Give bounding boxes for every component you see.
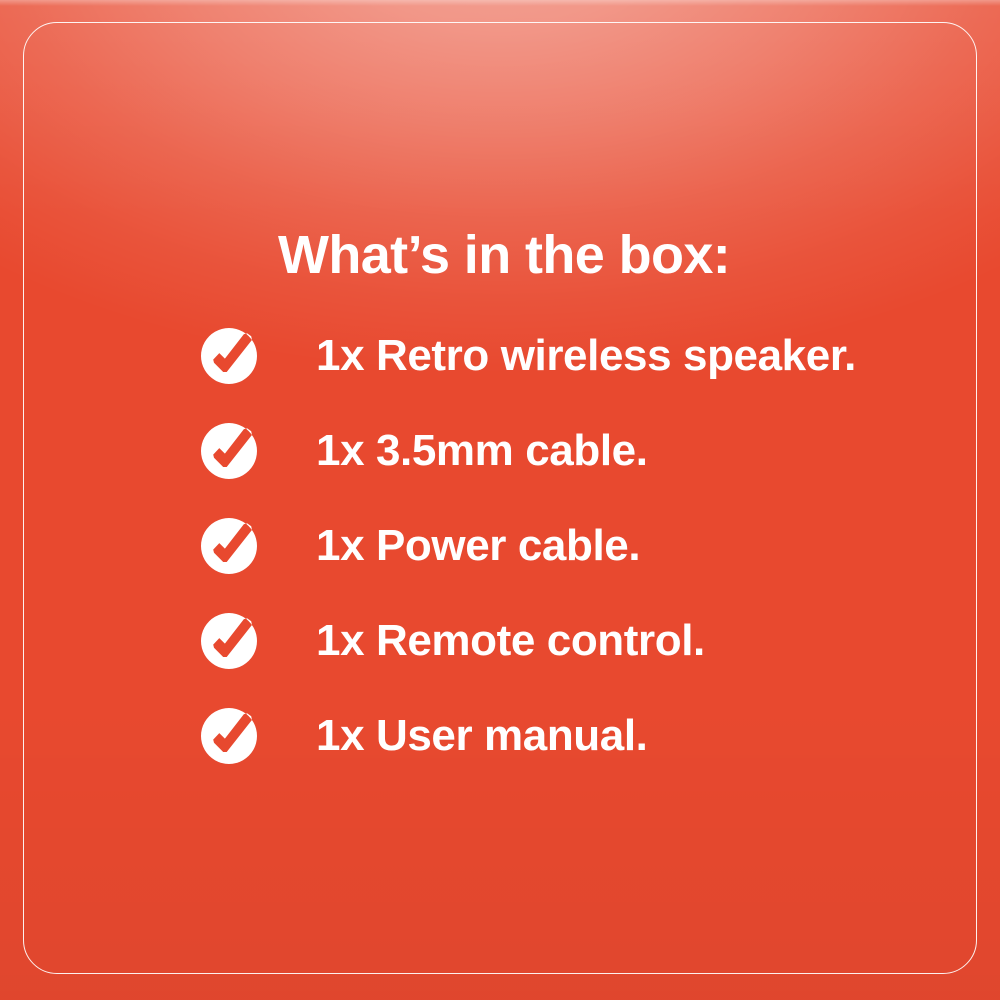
list-item: 1x User manual. (278, 708, 978, 764)
list-item-label: 1x Retro wireless speaker. (316, 334, 856, 378)
list-item-label: 1x 3.5mm cable. (316, 429, 648, 473)
top-edge-sheen (0, 0, 1000, 6)
list-item-label: 1x User manual. (316, 714, 648, 758)
list-item: 1x Power cable. (278, 518, 978, 574)
check-circle-icon (200, 707, 258, 765)
list-item: 1x 3.5mm cable. (278, 423, 978, 479)
page-title: What’s in the box: (278, 228, 978, 282)
list-item: 1x Retro wireless speaker. (278, 328, 978, 384)
box-contents-list: 1x Retro wireless speaker. 1x 3.5mm cabl… (278, 328, 978, 764)
product-info-card: What’s in the box: 1x Retro wireless spe… (0, 0, 1000, 1000)
check-circle-icon (200, 422, 258, 480)
check-circle-icon (200, 612, 258, 670)
list-item-label: 1x Remote control. (316, 619, 705, 663)
check-circle-icon (200, 517, 258, 575)
check-circle-icon (200, 327, 258, 385)
list-item: 1x Remote control. (278, 613, 978, 669)
card-content: What’s in the box: 1x Retro wireless spe… (278, 228, 978, 764)
list-item-label: 1x Power cable. (316, 524, 640, 568)
